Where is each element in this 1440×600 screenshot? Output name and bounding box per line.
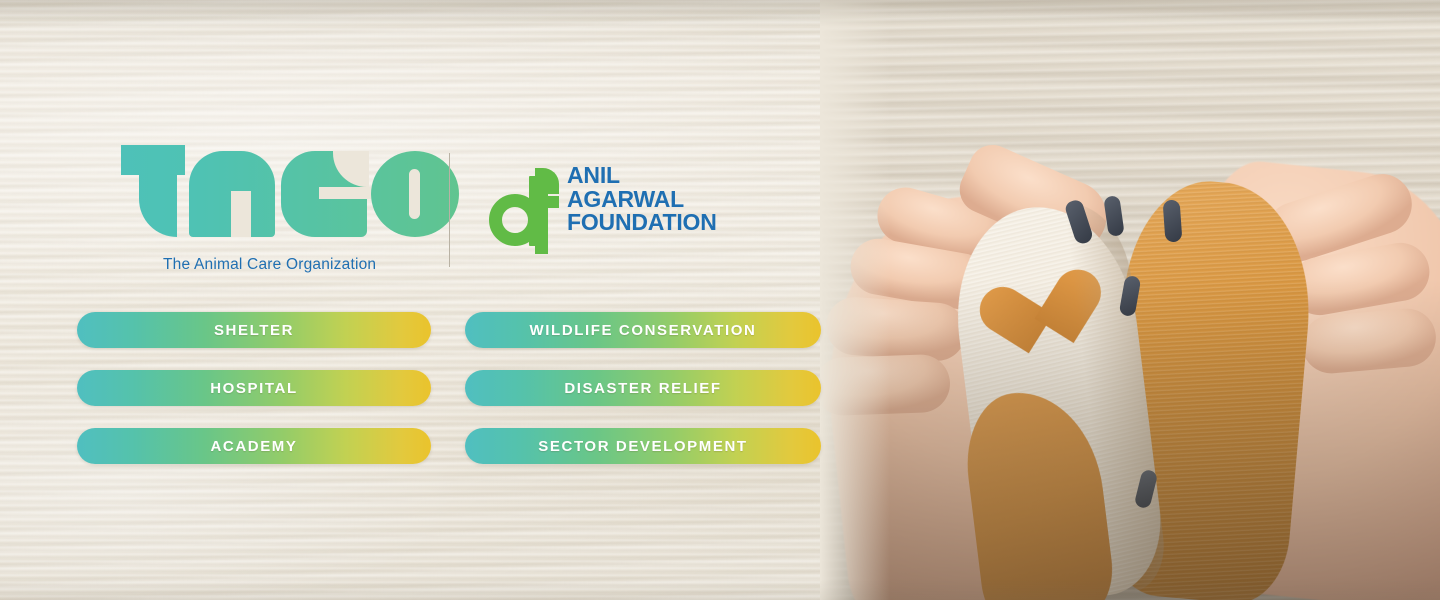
dog-claw-5 [1163, 199, 1183, 242]
photo-bottom-shading [820, 280, 1440, 600]
program-button-wildlife-conservation[interactable]: WILDLIFE CONSERVATION [465, 312, 821, 348]
program-button-hospital[interactable]: HOSPITAL [77, 370, 431, 406]
program-button-disaster-relief[interactable]: DISASTER RELIEF [465, 370, 821, 406]
banner-content: The Animal Care Organization ANIL AGARWA… [0, 0, 840, 600]
taco-hero-banner: The Animal Care Organization ANIL AGARWA… [0, 0, 1440, 600]
program-buttons: SHELTER HOSPITAL ACADEMY WILDLIFE CONSER… [0, 0, 840, 600]
hands-and-paws-photo [820, 0, 1440, 600]
program-button-shelter[interactable]: SHELTER [77, 312, 431, 348]
program-button-academy[interactable]: ACADEMY [77, 428, 431, 464]
program-button-sector-development[interactable]: SECTOR DEVELOPMENT [465, 428, 821, 464]
